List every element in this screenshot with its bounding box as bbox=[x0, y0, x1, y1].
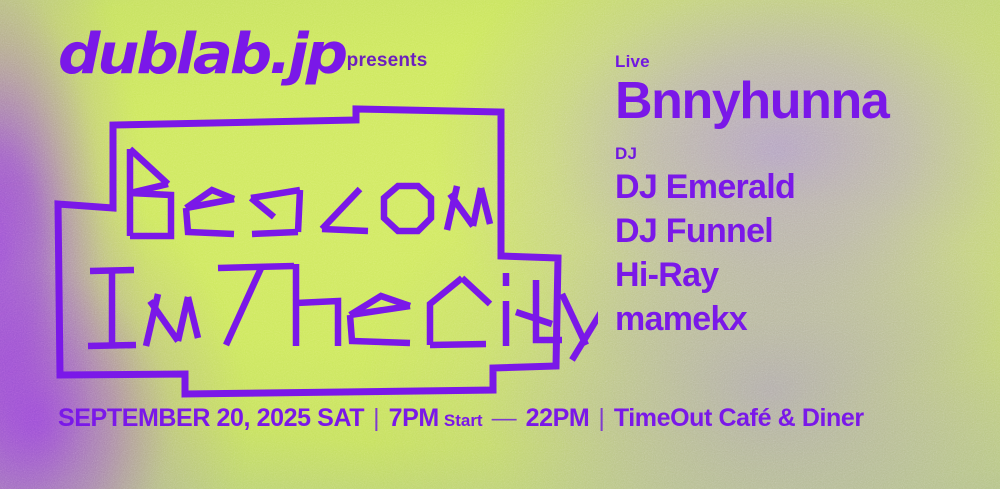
dublab-logo: dublab.jp bbox=[58, 28, 345, 81]
presents-label: presents bbox=[347, 50, 428, 81]
dj-artist-name: DJ Emerald bbox=[615, 166, 888, 210]
live-label: Live bbox=[615, 52, 888, 72]
lineup-section: Live Bnnyhunna DJ DJ Emerald DJ Funnel H… bbox=[615, 52, 888, 342]
brand-row: dublab.jp presents bbox=[58, 28, 427, 81]
venue-name: TimeOut Café & Diner bbox=[614, 404, 864, 433]
end-time: 22PM bbox=[526, 404, 590, 433]
live-artist-name: Bnnyhunna bbox=[615, 74, 888, 128]
event-flyer: dublab.jp presents bbox=[0, 0, 1000, 489]
dj-label: DJ bbox=[615, 144, 888, 164]
detail-separator: | bbox=[373, 404, 380, 433]
dj-list: DJ Emerald DJ Funnel Hi-Ray mamekx bbox=[615, 166, 888, 341]
detail-separator: | bbox=[598, 404, 605, 433]
dj-artist-name: DJ Funnel bbox=[615, 210, 888, 254]
event-details-bar: SEPTEMBER 20, 2025 SAT | 7PM Start — 22P… bbox=[58, 404, 864, 433]
start-time: 7PM bbox=[389, 404, 439, 433]
beacon-in-the-city-artwork bbox=[38, 98, 598, 398]
start-label: Start bbox=[444, 411, 483, 431]
dj-artist-name: mamekx bbox=[615, 298, 888, 342]
dj-artist-name: Hi-Ray bbox=[615, 254, 888, 298]
event-date: SEPTEMBER 20, 2025 SAT bbox=[58, 404, 364, 433]
time-range-dash: — bbox=[492, 404, 517, 433]
